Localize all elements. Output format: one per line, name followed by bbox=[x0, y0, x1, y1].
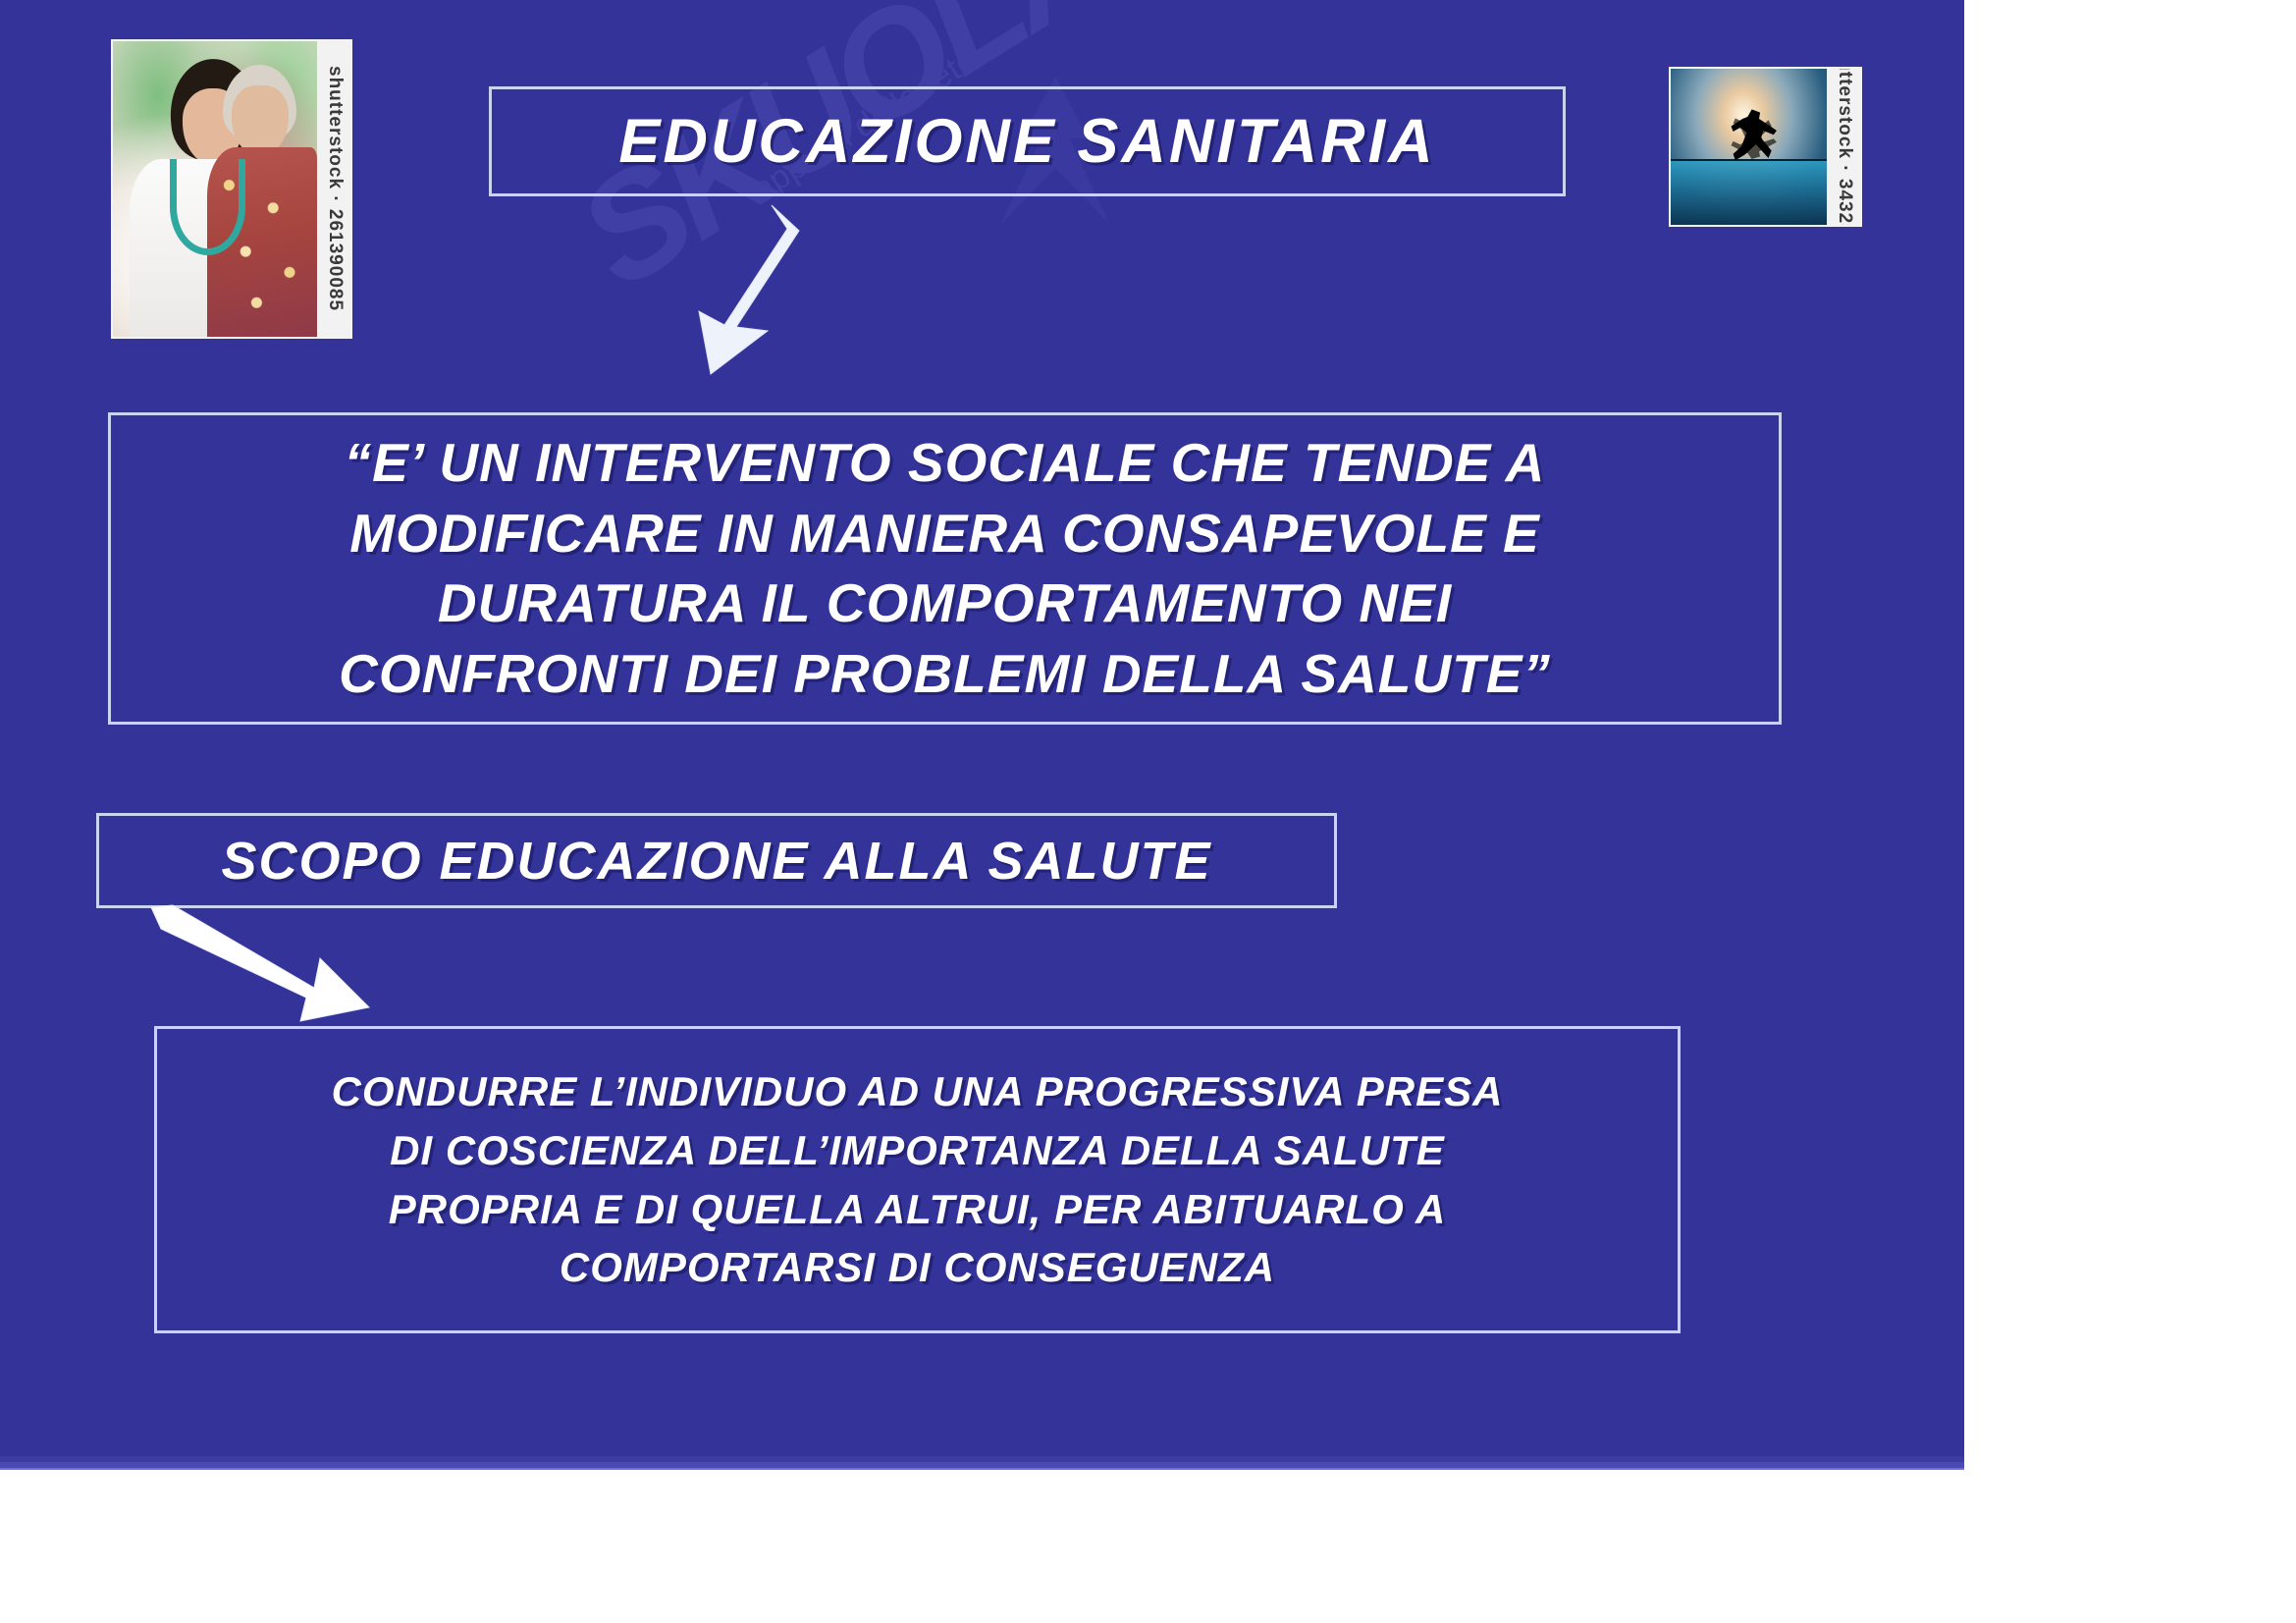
conduct-line-2: DI COSCIENZA DELL’IMPORTANZA DELLA SALUT… bbox=[169, 1121, 1666, 1180]
scopo-box: SCOPO EDUCAZIONE ALLA SALUTE bbox=[96, 813, 1337, 908]
arrow-title-to-definition-icon bbox=[677, 201, 805, 378]
slide-bottom-band-3 bbox=[0, 1468, 1964, 1470]
conduct-line-4: COMPORTARSI DI CONSEGUENZA bbox=[169, 1238, 1666, 1297]
nurse-photo-frame bbox=[111, 39, 352, 339]
slide-canvas: SKUOLA appunti della rete shutterstock ·… bbox=[0, 0, 1964, 1470]
arrow-scopo-to-conduct-icon bbox=[147, 903, 373, 1046]
runner-silhouette-photo: shutterstock · 3432381 bbox=[1669, 67, 1862, 227]
definition-line-1: “E’ UN INTERVENTO SOCIALE CHE TENDE A bbox=[125, 428, 1765, 499]
slide-title: EDUCAZIONE SANITARIA bbox=[492, 106, 1563, 177]
conduct-line-3: PROPRIA E DI QUELLA ALTRUI, PER ABITUARL… bbox=[169, 1180, 1666, 1239]
runner-photo-frame bbox=[1669, 67, 1862, 227]
slide-title-box: EDUCAZIONE SANITARIA bbox=[489, 86, 1566, 196]
nurse-elderly-photo: shutterstock · 261390085 bbox=[111, 39, 352, 339]
scopo-label: SCOPO EDUCAZIONE ALLA SALUTE bbox=[99, 831, 1334, 892]
definition-line-3: DURATURA IL COMPORTAMENTO NEI bbox=[125, 568, 1765, 639]
definition-line-2: MODIFICARE IN MANIERA CONSAPEVOLE E bbox=[125, 499, 1765, 569]
definition-line-4: CONFRONTI DEI PROBLEMI DELLA SALUTE” bbox=[125, 639, 1765, 710]
definition-box: “E’ UN INTERVENTO SOCIALE CHE TENDE A MO… bbox=[108, 412, 1782, 725]
conduct-box: CONDURRE L’INDIVIDUO AD UNA PROGRESSIVA … bbox=[154, 1026, 1681, 1333]
conduct-line-1: CONDURRE L’INDIVIDUO AD UNA PROGRESSIVA … bbox=[169, 1062, 1666, 1121]
